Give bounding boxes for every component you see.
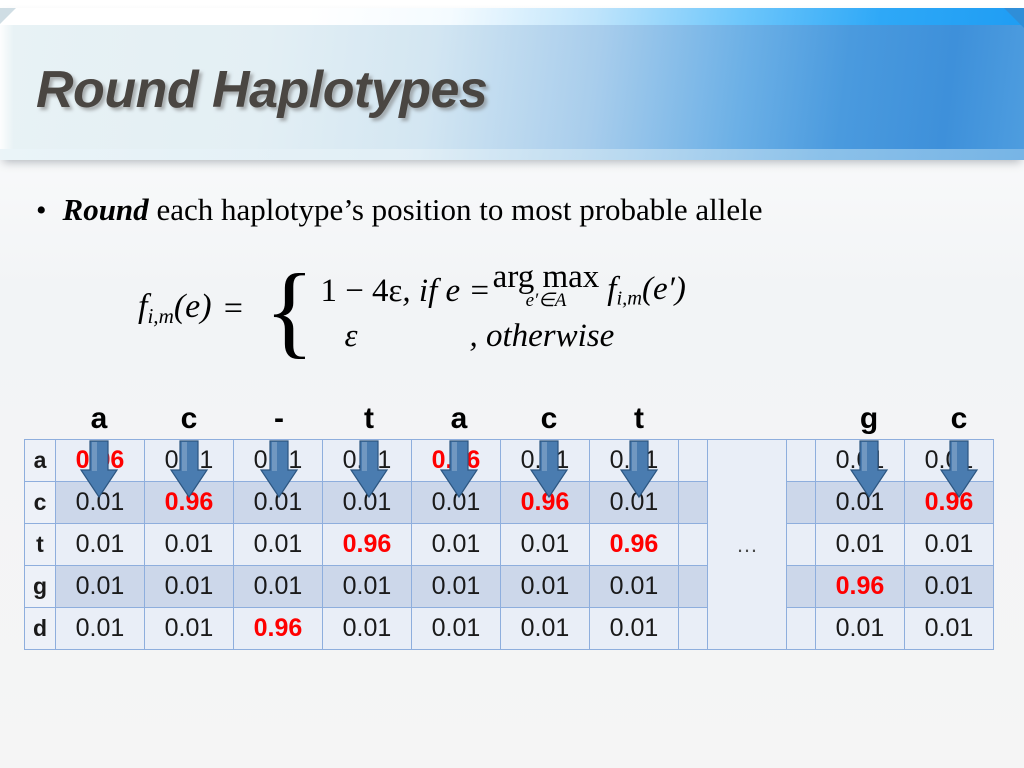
- cell-rounded-value: 0.96: [412, 440, 501, 482]
- cell-value: 0.01: [56, 482, 145, 524]
- cell-value: 0.01: [323, 482, 412, 524]
- cell-rounded-value: 0.96: [56, 440, 145, 482]
- bullet-keyword: Round: [63, 192, 149, 227]
- banner-bevel-left: [0, 8, 14, 160]
- bullet-row: • Round each haplotype’s position to mos…: [36, 193, 996, 227]
- haplotype-probability-matrix: a0.960.010.010.010.960.010.010.010.01c0.…: [24, 439, 994, 650]
- row-label: t: [25, 524, 56, 566]
- cell-value: 0.01: [816, 440, 905, 482]
- bullet-rest: each haplotype’s position to most probab…: [149, 192, 763, 227]
- column-header: c: [144, 404, 234, 434]
- cell-rounded-value: 0.96: [323, 524, 412, 566]
- cell-value: 0.01: [234, 440, 323, 482]
- cell-ellipsis: …: [708, 524, 787, 566]
- banner-bevel-top: [0, 8, 1024, 25]
- column-header: c: [914, 404, 1004, 434]
- column-header: c: [504, 404, 594, 434]
- cell-value: 0.01: [234, 482, 323, 524]
- cell-blank: [787, 524, 816, 566]
- title-banner: Round Haplotypes: [0, 8, 1024, 160]
- cell-value: 0.01: [905, 566, 994, 608]
- formula-equals: =: [222, 290, 245, 328]
- table-row: c0.010.960.010.010.010.960.010.010.96: [25, 482, 994, 524]
- cell-value: 0.01: [905, 608, 994, 650]
- cell-value: 0.01: [816, 524, 905, 566]
- column-header: a: [54, 404, 144, 434]
- formula-block: fi,m(e) = { 1 − 4ε , if e = arg max e′∈A…: [138, 262, 686, 355]
- cell-rounded-value: 0.96: [816, 566, 905, 608]
- formula-lhs-argument: (e): [174, 288, 212, 325]
- formula-lhs-subscript: i,m: [147, 304, 173, 328]
- cell-value: 0.01: [412, 482, 501, 524]
- column-header: a: [414, 404, 504, 434]
- banner-corner-top-left: [0, 8, 16, 24]
- cell-value: 0.01: [145, 566, 234, 608]
- cell-value: 0.01: [590, 608, 679, 650]
- row-label: d: [25, 608, 56, 650]
- argmax-subscript: e′∈A: [526, 291, 567, 310]
- cell-value: 0.01: [323, 566, 412, 608]
- cell-value: 0.01: [412, 566, 501, 608]
- row-label: a: [25, 440, 56, 482]
- banner-bevel-bottom: [0, 149, 1024, 160]
- cell-ellipsis: [708, 608, 787, 650]
- table-row: d0.010.010.960.010.010.010.010.010.01: [25, 608, 994, 650]
- column-header: -: [234, 404, 324, 434]
- cell-value: 0.01: [590, 440, 679, 482]
- bullet-text: Round each haplotype’s position to most …: [63, 193, 763, 227]
- matrix-column-headers: a c - t a c t g c: [24, 404, 1004, 439]
- cell-value: 0.01: [501, 524, 590, 566]
- cell-rounded-value: 0.96: [145, 482, 234, 524]
- cell-blank: [787, 482, 816, 524]
- cell-ellipsis: [708, 440, 787, 482]
- cell-blank: [679, 566, 708, 608]
- cell-value: 0.01: [323, 440, 412, 482]
- row-label: g: [25, 566, 56, 608]
- formula-case-2: ε , otherwise: [320, 318, 685, 355]
- cell-rounded-value: 0.96: [590, 524, 679, 566]
- cell-blank: [679, 482, 708, 524]
- cell-value: 0.01: [56, 524, 145, 566]
- column-header: g: [824, 404, 914, 434]
- cell-value: 0.01: [145, 440, 234, 482]
- cell-value: 0.01: [56, 608, 145, 650]
- cell-value: 0.01: [816, 482, 905, 524]
- cell-blank: [787, 440, 816, 482]
- cell-blank: [787, 608, 816, 650]
- cell-value: 0.01: [145, 608, 234, 650]
- case2-condition: , otherwise: [469, 318, 614, 355]
- table-row: a0.960.010.010.010.960.010.010.010.01: [25, 440, 994, 482]
- page-title: Round Haplotypes: [36, 60, 487, 120]
- cell-value: 0.01: [501, 566, 590, 608]
- case1-value: 1 − 4ε: [320, 273, 402, 310]
- cell-value: 0.01: [501, 440, 590, 482]
- cell-value: 0.01: [412, 608, 501, 650]
- cell-ellipsis: [708, 482, 787, 524]
- column-header: t: [324, 404, 414, 434]
- table-row: g0.010.010.010.010.010.010.010.960.01: [25, 566, 994, 608]
- cell-value: 0.01: [501, 608, 590, 650]
- column-header: t: [594, 404, 684, 434]
- cell-value: 0.01: [234, 524, 323, 566]
- cell-value: 0.01: [905, 440, 994, 482]
- slide-canvas: Round Haplotypes • Round each haplotype’…: [0, 0, 1024, 768]
- cell-blank: [679, 524, 708, 566]
- argmax-body: fi,m(e′): [607, 271, 686, 311]
- cell-value: 0.01: [234, 566, 323, 608]
- banner-corner-top-right: [1004, 8, 1024, 28]
- cell-value: 0.01: [56, 566, 145, 608]
- cell-blank: [679, 608, 708, 650]
- argmax-body-subscript: i,m: [616, 287, 642, 309]
- cell-value: 0.01: [323, 608, 412, 650]
- row-label: c: [25, 482, 56, 524]
- cell-blank: [787, 566, 816, 608]
- cell-value: 0.01: [412, 524, 501, 566]
- cell-rounded-value: 0.96: [905, 482, 994, 524]
- formula-lhs: fi,m(e): [138, 288, 212, 329]
- cell-value: 0.01: [145, 524, 234, 566]
- cell-value: 0.01: [590, 482, 679, 524]
- case2-value: ε: [344, 318, 357, 355]
- cell-blank: [679, 440, 708, 482]
- formula-cases: 1 − 4ε , if e = arg max e′∈A fi,m(e′) ε …: [320, 262, 685, 355]
- bullet-marker-icon: •: [36, 196, 47, 226]
- cell-value: 0.01: [590, 566, 679, 608]
- cell-ellipsis: [708, 566, 787, 608]
- case1-condition: , if e =: [402, 273, 490, 310]
- argmax-op-label: arg max: [493, 262, 600, 293]
- cell-value: 0.01: [816, 608, 905, 650]
- argmax-body-argument: (e′): [642, 271, 686, 307]
- cell-value: 0.01: [905, 524, 994, 566]
- table-row: t0.010.010.010.960.010.010.96…0.010.01: [25, 524, 994, 566]
- cell-rounded-value: 0.96: [234, 608, 323, 650]
- argmax-operator: arg max e′∈A: [493, 262, 600, 310]
- cell-rounded-value: 0.96: [501, 482, 590, 524]
- formula-case-1: 1 − 4ε , if e = arg max e′∈A fi,m(e′): [320, 262, 685, 310]
